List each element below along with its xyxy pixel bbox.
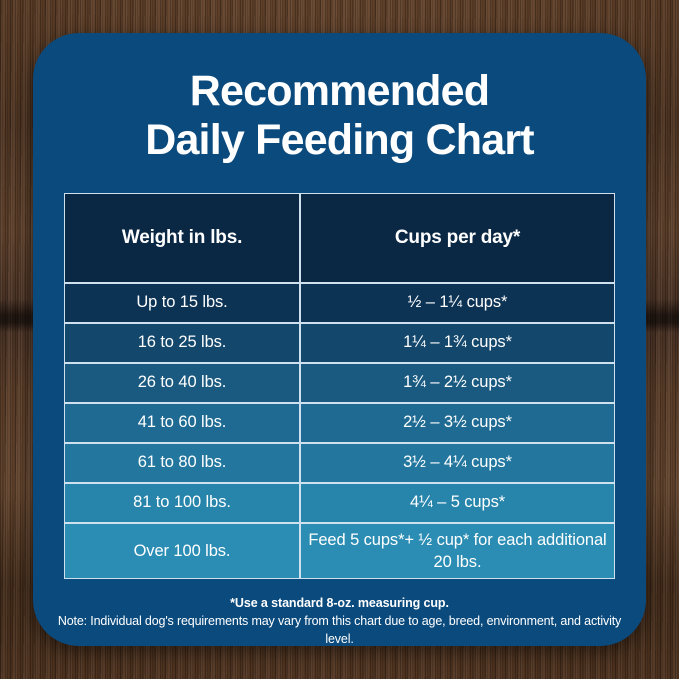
table-row: Up to 15 lbs. ½ – 1¼ cups* bbox=[64, 283, 615, 323]
column-header-cups: Cups per day* bbox=[300, 193, 615, 283]
cell-cups: 1¼ – 1¾ cups* bbox=[300, 323, 615, 363]
footnotes: *Use a standard 8-oz. measuring cup. Not… bbox=[33, 596, 646, 646]
table-header-row: Weight in lbs. Cups per day* bbox=[64, 193, 615, 283]
cell-weight: Up to 15 lbs. bbox=[64, 283, 300, 323]
page-title-line-1: Recommended bbox=[73, 67, 606, 116]
page-title-line-2: Daily Feeding Chart bbox=[73, 116, 606, 165]
cell-cups: 3½ – 4¼ cups* bbox=[300, 443, 615, 483]
cell-weight: 26 to 40 lbs. bbox=[64, 363, 300, 403]
cell-cups: 4¼ – 5 cups* bbox=[300, 483, 615, 523]
footnote-note: Note: Individual dog's requirements may … bbox=[43, 612, 636, 646]
table-row: 41 to 60 lbs. 2½ – 3½ cups* bbox=[64, 403, 615, 443]
cell-weight: 41 to 60 lbs. bbox=[64, 403, 300, 443]
table-row: 26 to 40 lbs. 1¾ – 2½ cups* bbox=[64, 363, 615, 403]
cell-cups: 1¾ – 2½ cups* bbox=[300, 363, 615, 403]
table-body: Up to 15 lbs. ½ – 1¼ cups* 16 to 25 lbs.… bbox=[64, 283, 615, 579]
cell-weight: 81 to 100 lbs. bbox=[64, 483, 300, 523]
table-row: 81 to 100 lbs. 4¼ – 5 cups* bbox=[64, 483, 615, 523]
cell-cups: ½ – 1¼ cups* bbox=[300, 283, 615, 323]
table-row: Over 100 lbs. Feed 5 cups*+ ½ cup* for e… bbox=[64, 523, 615, 579]
cell-weight: 16 to 25 lbs. bbox=[64, 323, 300, 363]
table-header: Weight in lbs. Cups per day* bbox=[64, 193, 615, 283]
table-row: 16 to 25 lbs. 1¼ – 1¾ cups* bbox=[64, 323, 615, 363]
footnote-measuring-cup: *Use a standard 8-oz. measuring cup. bbox=[43, 596, 636, 610]
cell-cups: Feed 5 cups*+ ½ cup* for each additional… bbox=[300, 523, 615, 579]
cell-cups: 2½ – 3½ cups* bbox=[300, 403, 615, 443]
cell-weight: 61 to 80 lbs. bbox=[64, 443, 300, 483]
cell-weight: Over 100 lbs. bbox=[64, 523, 300, 579]
column-header-weight: Weight in lbs. bbox=[64, 193, 300, 283]
feeding-chart-card: Recommended Daily Feeding Chart Weight i… bbox=[33, 33, 646, 646]
feeding-table: Weight in lbs. Cups per day* Up to 15 lb… bbox=[64, 193, 615, 579]
table-row: 61 to 80 lbs. 3½ – 4¼ cups* bbox=[64, 443, 615, 483]
page-title: Recommended Daily Feeding Chart bbox=[33, 33, 646, 166]
